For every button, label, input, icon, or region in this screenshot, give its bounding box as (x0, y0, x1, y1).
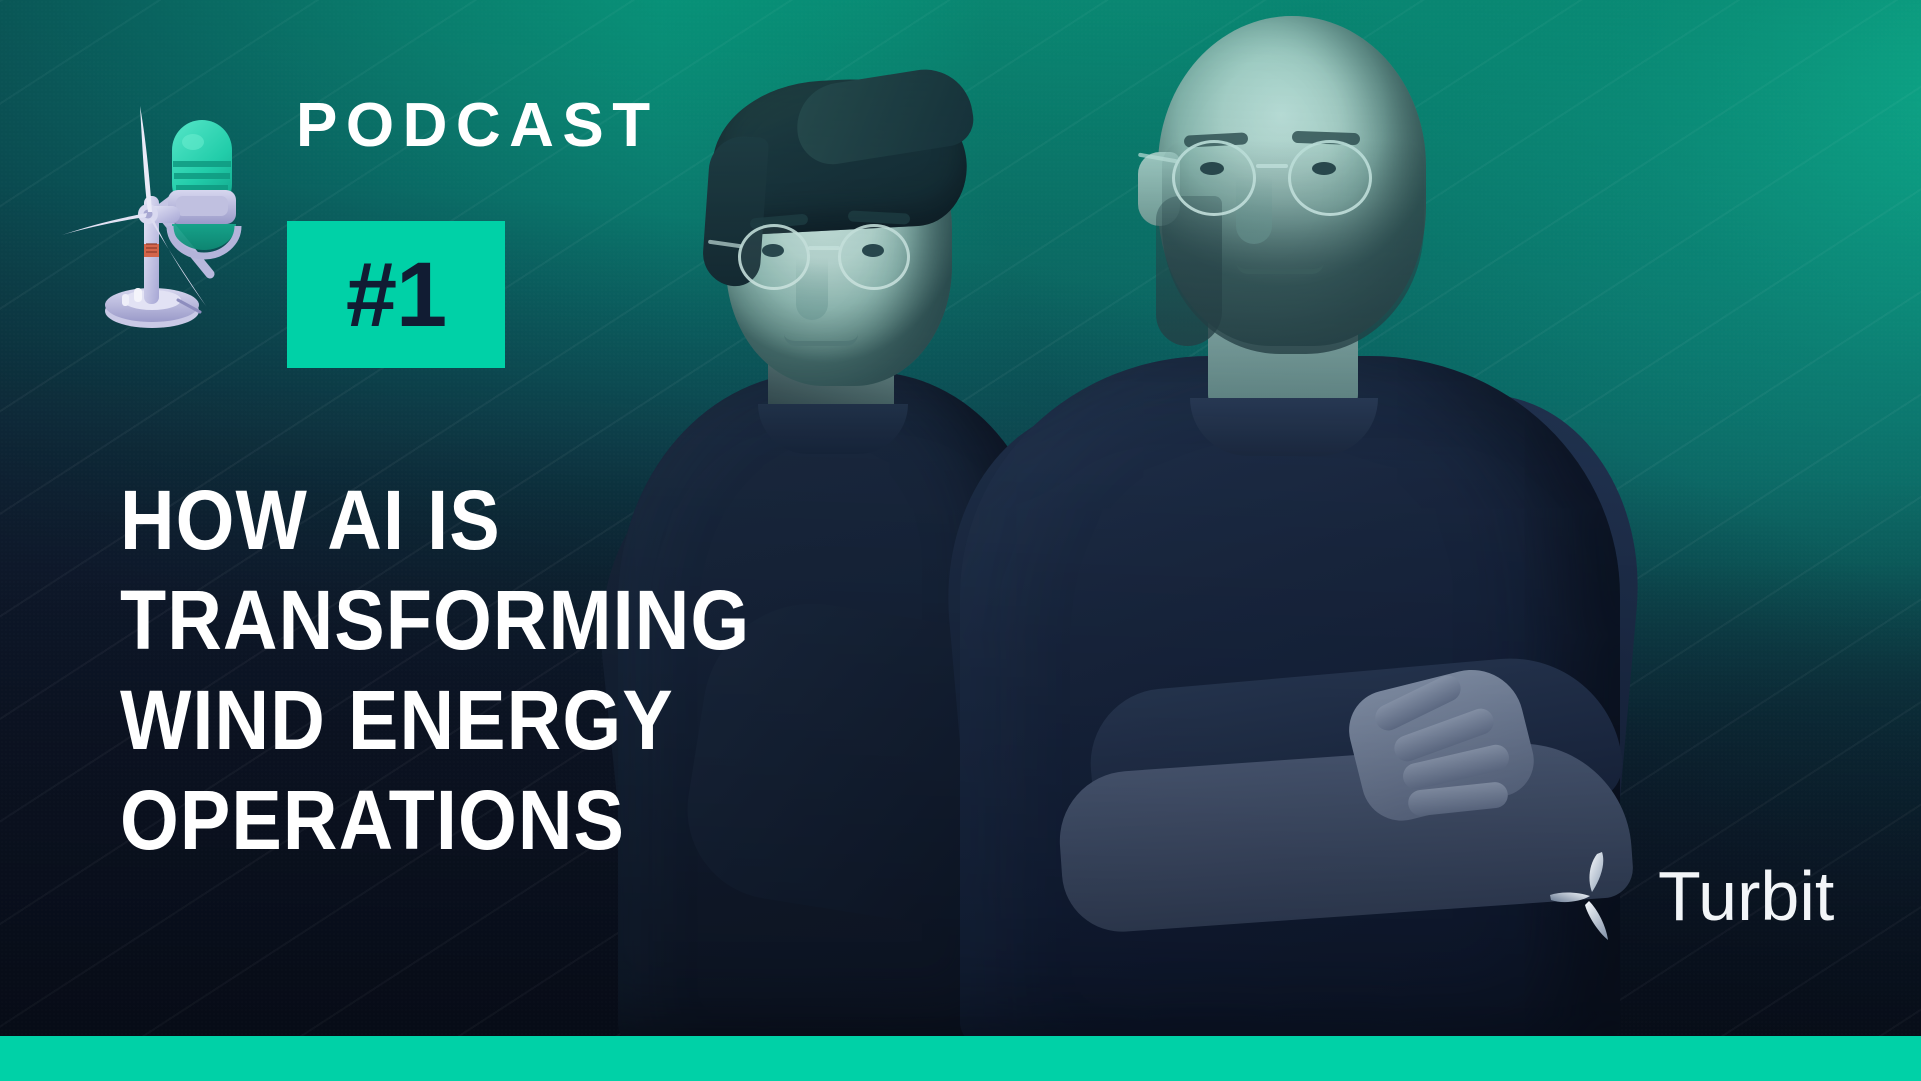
wind-turbine-microphone-illustration (60, 78, 250, 328)
episode-number-label: #1 (346, 249, 446, 341)
turbine-blade-1 (140, 106, 152, 212)
podcast-cover: PODCAST #1 HOW AI IS TRANSFORMING WIND E… (0, 0, 1921, 1081)
headline-line-2: TRANSFORMING (120, 570, 858, 670)
page-title: HOW AI IS TRANSFORMING WIND ENERGY OPERA… (120, 470, 858, 870)
headline-line-4: OPERATIONS (120, 770, 858, 870)
brand-name: Turbit (1658, 861, 1834, 931)
podcast-eyebrow-label: PODCAST (296, 95, 659, 157)
brand-logo: Turbit (1548, 848, 1834, 944)
episode-number-badge: #1 (287, 221, 505, 368)
headline-line-3: WIND ENERGY (120, 670, 858, 770)
turbine-blade-2 (62, 213, 147, 235)
bottom-accent-bar (0, 1036, 1921, 1081)
headline-line-1: HOW AI IS (120, 470, 858, 570)
turbine-rotor-icon (1548, 848, 1644, 944)
